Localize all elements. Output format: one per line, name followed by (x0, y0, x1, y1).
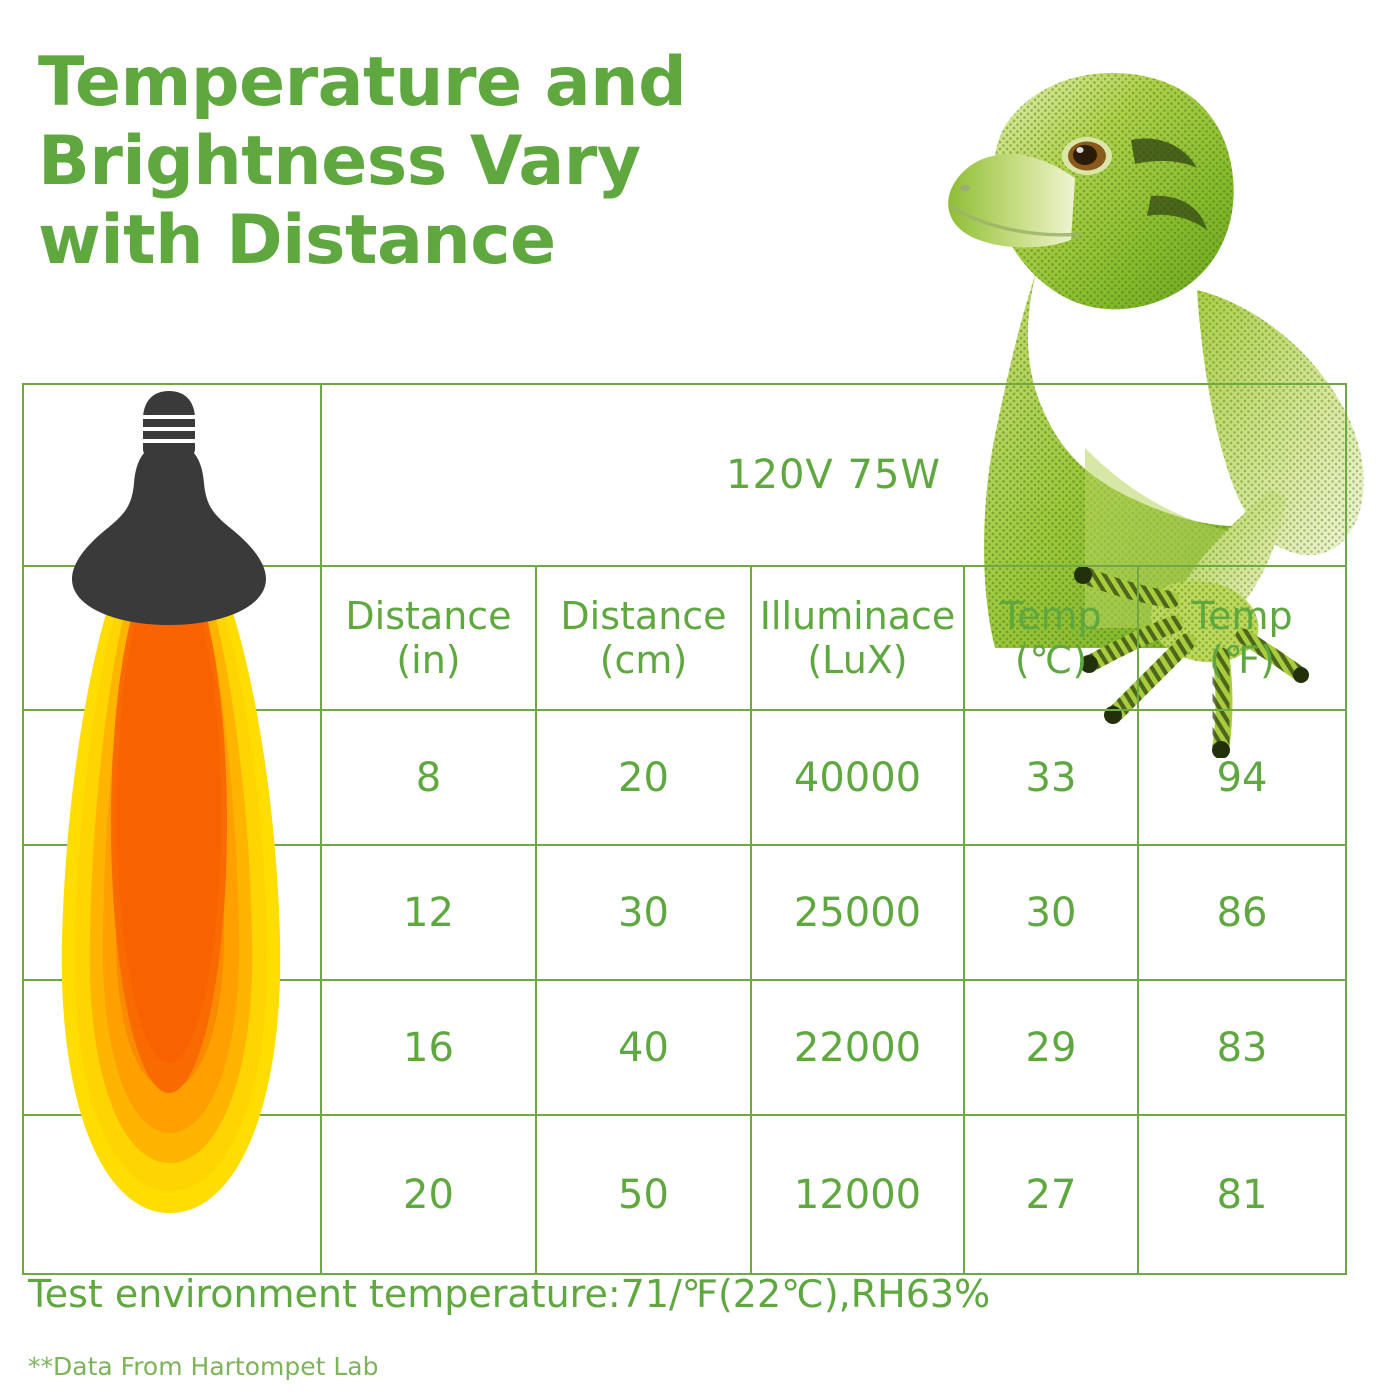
header-line-2: (℉) (1140, 638, 1344, 682)
cell-temp-f: 86 (1138, 845, 1346, 980)
table-row: 12 30 25000 30 86 (23, 845, 1346, 980)
beam-illustration-cell (23, 384, 321, 566)
spec-table: 120V 75W Distance (in) Distance (cm) Ill… (22, 383, 1347, 1275)
table-title-row: 120V 75W (23, 384, 1346, 566)
column-header-illuminance: Illuminace (LuX) (751, 566, 964, 710)
cell-temp-f: 83 (1138, 980, 1346, 1115)
test-conditions-note: Test environment temperature:71/℉(22℃),R… (28, 1272, 990, 1316)
cell-temp-f: 94 (1138, 710, 1346, 845)
cell-distance-in: 8 (321, 710, 536, 845)
spec-title: 120V 75W (321, 384, 1346, 566)
cell-distance-cm: 30 (536, 845, 751, 980)
cell-distance-in: 20 (321, 1115, 536, 1274)
cell-illuminance: 25000 (751, 845, 964, 980)
beam-illustration-cell (23, 710, 321, 845)
header-line-2: (in) (323, 638, 534, 682)
cell-temp-c: 33 (964, 710, 1138, 845)
cell-temp-c: 27 (964, 1115, 1138, 1274)
cell-distance-cm: 20 (536, 710, 751, 845)
table-row: 16 40 22000 29 83 (23, 980, 1346, 1115)
table-row: 8 20 40000 33 94 (23, 710, 1346, 845)
beam-illustration-cell (23, 1115, 321, 1274)
column-header-distance-in: Distance (in) (321, 566, 536, 710)
beam-illustration-cell (23, 845, 321, 980)
cell-distance-in: 12 (321, 845, 536, 980)
beam-illustration-cell (23, 566, 321, 710)
table-row: 20 50 12000 27 81 (23, 1115, 1346, 1274)
header-line-1: Illuminace (760, 594, 956, 638)
header-line-2: (cm) (538, 638, 749, 682)
cell-distance-in: 16 (321, 980, 536, 1115)
cell-illuminance: 40000 (751, 710, 964, 845)
beam-illustration-cell (23, 980, 321, 1115)
cell-temp-c: 29 (964, 980, 1138, 1115)
cell-temp-f: 81 (1138, 1115, 1346, 1274)
data-source-note: **Data From Hartompet Lab (28, 1352, 379, 1381)
header-line-1: Distance (345, 594, 511, 638)
cell-distance-cm: 40 (536, 980, 751, 1115)
header-line-2: (LuX) (753, 638, 962, 682)
header-line-1: Distance (560, 594, 726, 638)
column-header-temp-c: Temp (℃) (964, 566, 1138, 710)
cell-temp-c: 30 (964, 845, 1138, 980)
cell-illuminance: 12000 (751, 1115, 964, 1274)
cell-distance-cm: 50 (536, 1115, 751, 1274)
column-header-distance-cm: Distance (cm) (536, 566, 751, 710)
table-header-row: Distance (in) Distance (cm) Illuminace (… (23, 566, 1346, 710)
cell-illuminance: 22000 (751, 980, 964, 1115)
page-title: Temperature and Brightness Vary with Dis… (38, 44, 858, 281)
header-line-1: Temp (1191, 594, 1292, 638)
header-line-2: (℃) (966, 638, 1136, 682)
column-header-temp-f: Temp (℉) (1138, 566, 1346, 710)
header-line-1: Temp (1000, 594, 1101, 638)
